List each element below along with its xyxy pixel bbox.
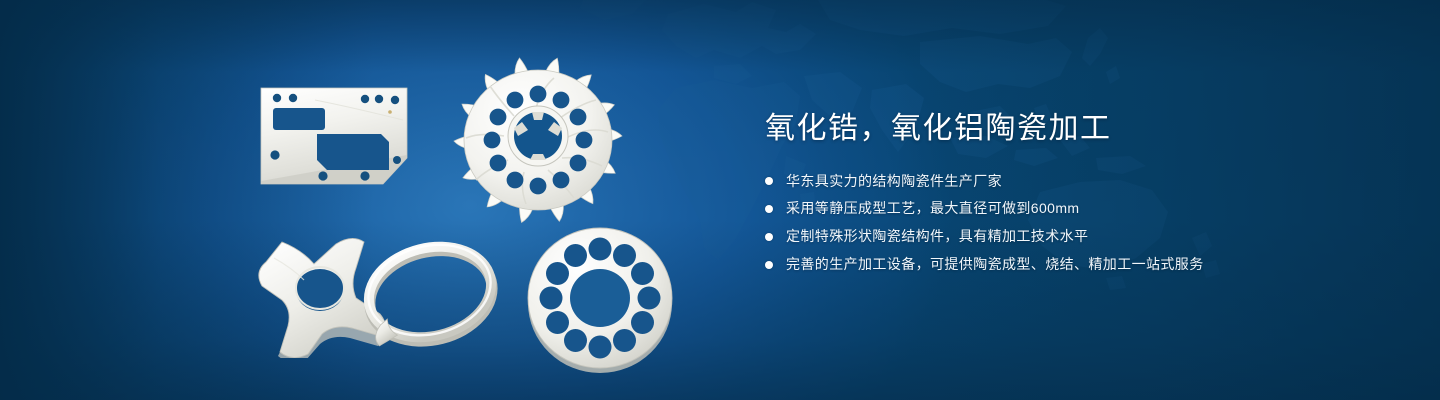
bullet-dot-icon bbox=[765, 261, 773, 269]
list-item-label: 完善的生产加工设备，可提供陶瓷成型、烧结、精加工一站式服务 bbox=[786, 255, 1204, 274]
ceramic-flange-disc-image bbox=[520, 222, 680, 377]
hero-banner: 氧化锆，氧化铝陶瓷加工 华东具实力的结构陶瓷件生产厂家 采用等静压成型工艺，最大… bbox=[0, 0, 1440, 400]
list-item-label: 定制特殊形状陶瓷结构件，具有精加工技术水平 bbox=[786, 227, 1088, 246]
banner-copy: 氧化锆，氧化铝陶瓷加工 华东具实力的结构陶瓷件生产厂家 采用等静压成型工艺，最大… bbox=[765, 110, 1385, 283]
list-item-label: 华东具实力的结构陶瓷件生产厂家 bbox=[786, 172, 1002, 191]
feature-list: 华东具实力的结构陶瓷件生产厂家 采用等静压成型工艺，最大直径可做到600mm 定… bbox=[765, 172, 1385, 275]
bullet-dot-icon bbox=[765, 177, 773, 185]
list-item: 华东具实力的结构陶瓷件生产厂家 bbox=[765, 172, 1385, 191]
page-title: 氧化锆，氧化铝陶瓷加工 bbox=[765, 110, 1385, 148]
list-item: 定制特殊形状陶瓷结构件，具有精加工技术水平 bbox=[765, 227, 1385, 246]
list-item: 完善的生产加工设备，可提供陶瓷成型、烧结、精加工一站式服务 bbox=[765, 255, 1385, 274]
ceramic-impeller-image bbox=[448, 48, 628, 228]
ceramic-ring-image bbox=[348, 230, 513, 355]
ceramic-plate-image bbox=[255, 82, 435, 202]
list-item-label: 采用等静压成型工艺，最大直径可做到600mm bbox=[786, 199, 1079, 218]
bullet-dot-icon bbox=[765, 205, 773, 213]
product-photo-group bbox=[0, 0, 720, 400]
list-item: 采用等静压成型工艺，最大直径可做到600mm bbox=[765, 199, 1385, 218]
bullet-dot-icon bbox=[765, 233, 773, 241]
